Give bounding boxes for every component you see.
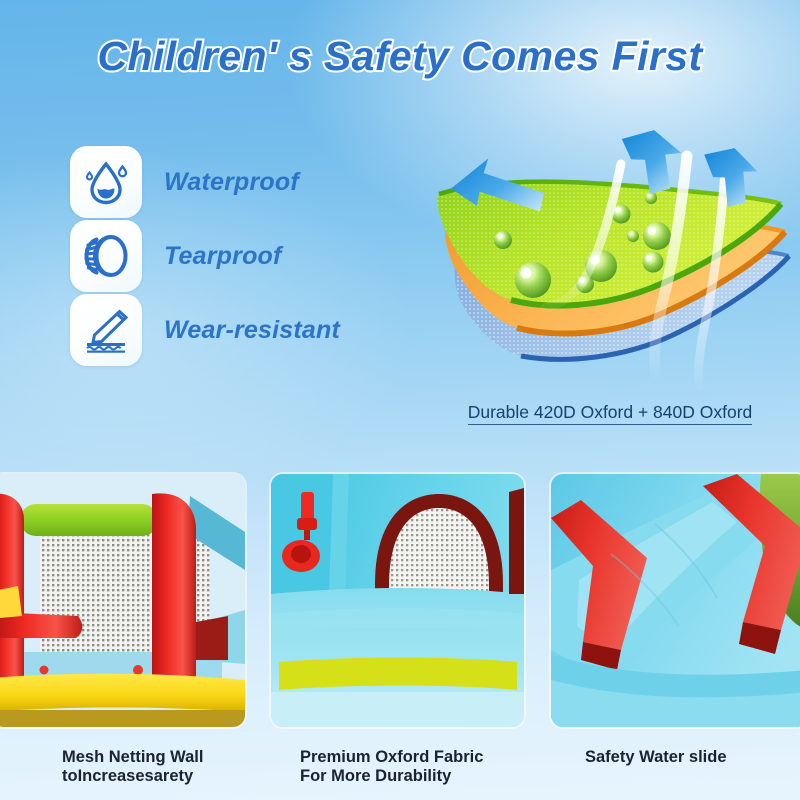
feature-item-wear-resistant: Wear-resistant (70, 294, 340, 366)
caption-line-2: For More Durability (300, 767, 483, 786)
fabric-caption-text: Durable 420D Oxford + 840D Oxford (468, 402, 753, 425)
caption-line-2: toIncreasesarety (62, 767, 203, 786)
feature-list: Waterproof (70, 146, 340, 368)
infographic-page: Children' s Safety Comes First Waterproo… (0, 0, 800, 800)
panel-caption-safety-water-slide: Safety Water slide (585, 748, 727, 767)
page-title: Children' s Safety Comes First (0, 33, 800, 80)
panel-caption-premium-oxford-fabric: Premium Oxford Fabric For More Durabilit… (300, 748, 483, 786)
fabric-caption: Durable 420D Oxford + 840D Oxford (425, 402, 795, 423)
feature-icon-tile (70, 220, 142, 292)
panel-caption-mesh-netting-wall: Mesh Netting Wall toIncreasesarety (62, 748, 203, 786)
mesh-netting-wall-photo[interactable] (0, 474, 245, 727)
photo-panel-row (0, 474, 800, 729)
caption-line-1: Premium Oxford Fabric (300, 748, 483, 767)
tire-tread-icon (81, 231, 131, 281)
feature-item-waterproof: Waterproof (70, 146, 340, 218)
caption-line-1: Safety Water slide (585, 748, 727, 767)
water-drop-icon (81, 157, 131, 207)
feature-label: Waterproof (164, 168, 299, 197)
feature-icon-tile (70, 294, 142, 366)
feature-item-tearproof: Tearproof (70, 220, 340, 292)
fabric-layers-illustration (425, 128, 795, 403)
blade-scrape-icon (81, 305, 131, 355)
feature-label: Tearproof (164, 242, 282, 271)
safety-water-slide-photo[interactable] (551, 474, 800, 727)
feature-label: Wear-resistant (164, 316, 340, 345)
premium-oxford-fabric-photo[interactable] (271, 474, 524, 727)
caption-line-1: Mesh Netting Wall (62, 748, 203, 767)
feature-icon-tile (70, 146, 142, 218)
